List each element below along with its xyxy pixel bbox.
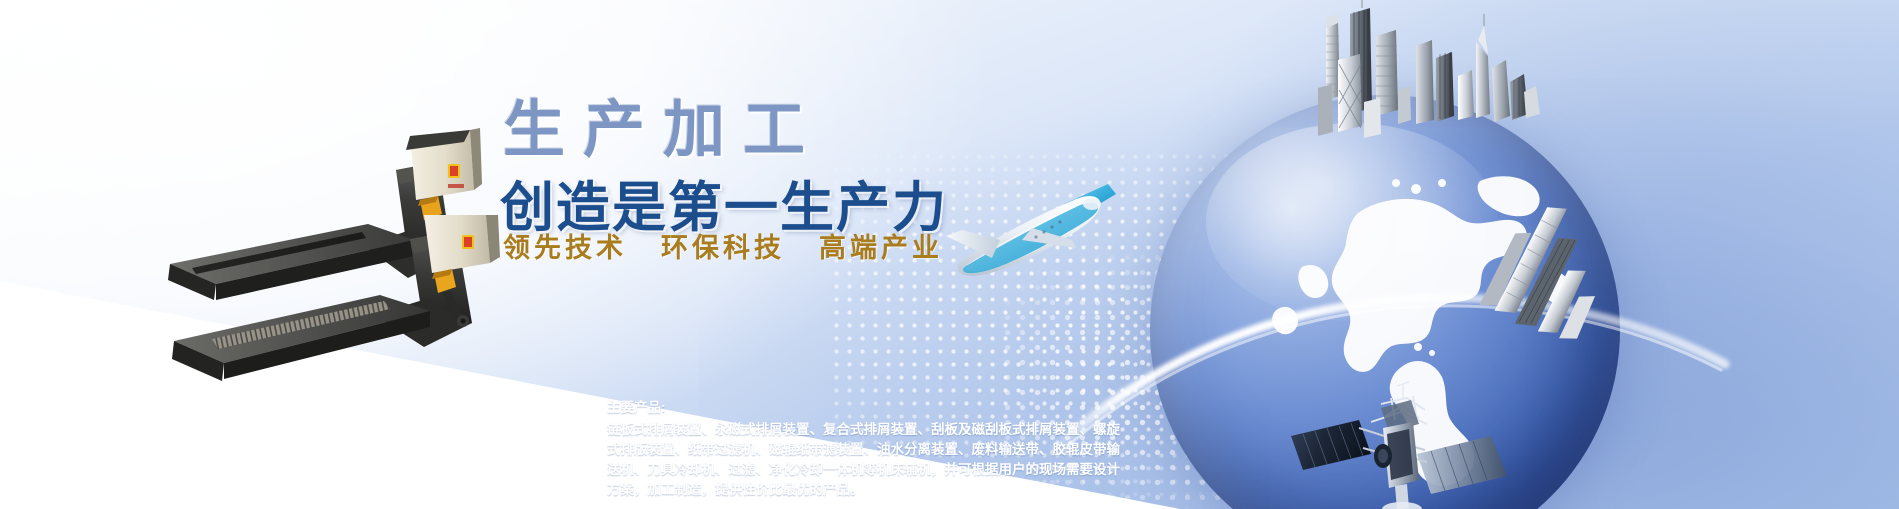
tagline-item-1: 领先技术	[503, 233, 627, 263]
globe-graphic	[1150, 95, 1620, 509]
globe-landmass-icon	[1150, 95, 1620, 509]
tagline-item-3: 高端产业	[819, 233, 943, 263]
product-description: 主要产品: 链板式排屑装置、永磁式排屑装置、复合式排屑装置、刮板及磁刮板式排屑装…	[607, 398, 1127, 500]
satellite-graphic	[1285, 328, 1515, 509]
tagline-row: 领先技术环保科技高端产业	[503, 226, 943, 265]
orbit-arc-graphic	[1045, 150, 1735, 509]
airplane-graphic	[940, 178, 1130, 288]
background-right-tint	[1159, 0, 1899, 509]
tagline-item-2: 环保科技	[661, 233, 785, 263]
headline-primary: 生产加工	[503, 79, 823, 169]
city-skyline-right-graphic	[1453, 164, 1702, 429]
chip-conveyor-upper	[152, 128, 482, 318]
promo-banner: 生产加工 创造是第一生产力 领先技术环保科技高端产业 主要产品: 链板式排屑装置…	[0, 0, 1899, 509]
product-description-title: 主要产品:	[607, 398, 1127, 418]
chip-conveyor-lower	[160, 215, 500, 400]
globe-highlight	[1206, 123, 1497, 320]
product-description-body: 链板式排屑装置、永磁式排屑装置、复合式排屑装置、刮板及磁刮板式排屑装置、螺旋式排…	[607, 420, 1127, 500]
city-skyline-graphic	[1318, 0, 1548, 192]
globe-sphere	[1150, 95, 1620, 509]
